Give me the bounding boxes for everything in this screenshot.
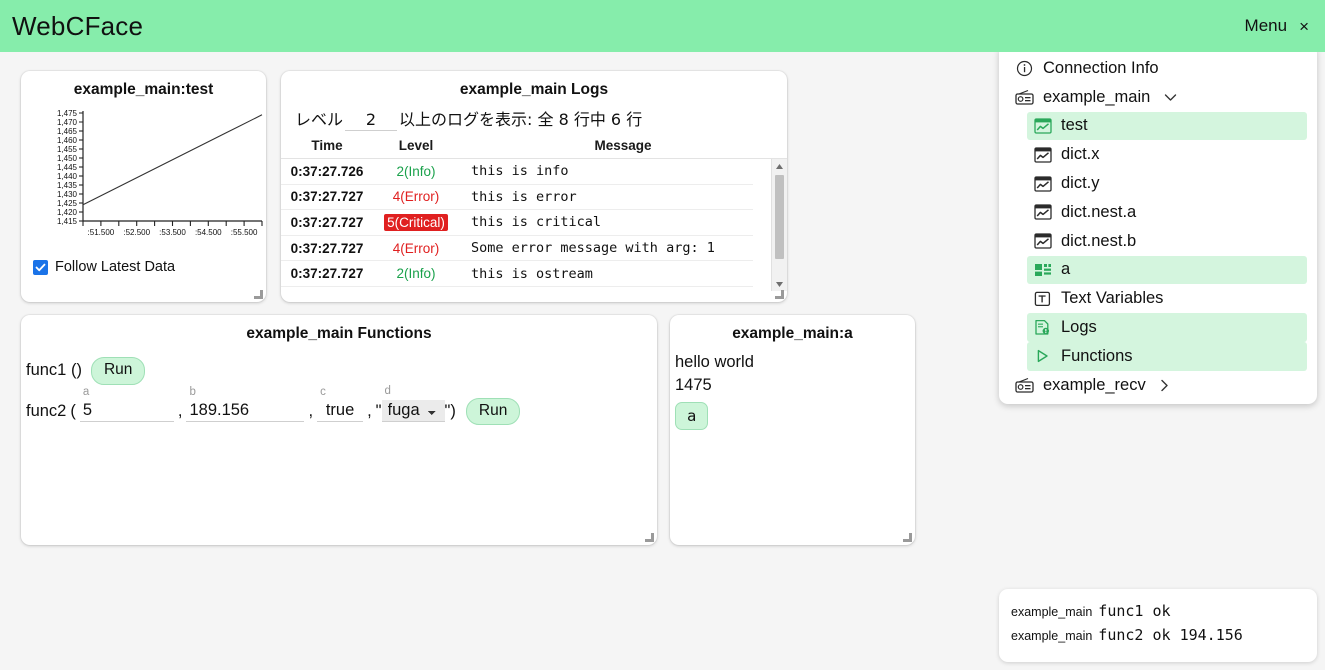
sidebar-item-a[interactable]: a — [1027, 256, 1307, 285]
svg-text:1,445: 1,445 — [57, 163, 78, 172]
svg-text::52.500: :52.500 — [123, 228, 150, 237]
func2-comma-2: , — [304, 402, 317, 421]
follow-latest-checkbox[interactable] — [33, 260, 48, 275]
function-row-func2: func2 ( a , b , c , " d fuga " ) Run — [21, 398, 657, 426]
log-row-message: this is critical — [459, 214, 753, 230]
func2-arg-b-input[interactable] — [186, 401, 304, 422]
text-icon — [1033, 289, 1052, 308]
notification-panel: example_mainfunc1 okexample_mainfunc2 ok… — [999, 589, 1317, 662]
log-row-time: 0:37:27.727 — [281, 215, 373, 230]
view-icon — [1033, 260, 1052, 279]
sidebar-item-label: Logs — [1061, 318, 1097, 337]
radio-icon — [1015, 376, 1034, 395]
svg-text:1,420: 1,420 — [57, 208, 78, 217]
sidebar-item-functions[interactable]: Functions — [1027, 342, 1307, 371]
status-badge: 5(Critical) — [384, 214, 448, 231]
table-row: 0:37:27.7274(Error)Some error message wi… — [281, 236, 753, 262]
sidebar-item-label: dict.nest.a — [1061, 203, 1136, 222]
status-badge: 2(Info) — [393, 265, 438, 282]
svg-text:1,475: 1,475 — [57, 109, 78, 118]
header-actions: Menu × — [1245, 16, 1309, 36]
func2-arg-d: d fuga — [382, 400, 445, 422]
func2-open-paren: ( — [66, 402, 80, 421]
sidebar-item-dict-nest-a[interactable]: dict.nest.a — [1027, 198, 1307, 227]
value-card-resize-handle[interactable] — [901, 531, 912, 542]
sidebar-item-label: dict.y — [1061, 174, 1100, 193]
check-icon — [35, 262, 46, 273]
log-row-level: 4(Error) — [373, 241, 459, 256]
func2-run-button[interactable]: Run — [466, 398, 520, 426]
sidebar-item-dict-nest-b[interactable]: dict.nest.b — [1027, 227, 1307, 256]
value-card: example_main:a hello world 1475 a — [670, 315, 915, 545]
notification-message: func2 ok 194.156 — [1098, 626, 1243, 644]
value-list: hello world 1475 a — [670, 343, 915, 430]
table-row: 0:37:27.7275(Critical)this is critical — [281, 210, 753, 236]
table-row: 0:37:27.7272(Info)this is ostream — [281, 261, 753, 287]
func2-arg-d-select[interactable]: fuga — [382, 400, 445, 422]
log-row-level: 5(Critical) — [373, 215, 459, 230]
chart-card-resize-handle[interactable] — [252, 288, 263, 299]
log-row-level: 2(Info) — [373, 266, 459, 281]
func2-arg-b: b — [186, 401, 304, 422]
chevron-right-icon[interactable] — [1160, 379, 1169, 392]
notification-source: example_main — [1011, 605, 1092, 619]
status-badge: 4(Error) — [390, 240, 443, 257]
log-column-message: Message — [459, 138, 787, 153]
value-line-text: hello world — [675, 351, 915, 374]
sidebar-item-list: Connection Infoexample_maintestdict.xdic… — [1009, 54, 1307, 400]
svg-text:1,415: 1,415 — [57, 217, 78, 226]
function-row-func1: func1 () Run — [21, 357, 657, 385]
func2-arg-a: a — [80, 401, 174, 422]
sidebar-item-label: Text Variables — [1061, 289, 1163, 308]
log-table-header: Time Level Message — [281, 135, 787, 159]
log-row-time: 0:37:27.727 — [281, 189, 373, 204]
func1-name: func1 — [26, 361, 66, 379]
func2-arg-c: c — [317, 401, 363, 422]
app-title: WebCFace — [12, 11, 143, 42]
func1-close-paren: ) — [76, 361, 82, 379]
func2-arg-d-label: d — [385, 385, 391, 397]
svg-text:1,435: 1,435 — [57, 181, 78, 190]
sidebar-item-connection-info[interactable]: Connection Info — [1009, 54, 1307, 83]
list-item: example_mainfunc1 ok — [1011, 599, 1305, 623]
functions-card-resize-handle[interactable] — [643, 531, 654, 542]
chart-icon — [1033, 174, 1052, 193]
log-row-time: 0:37:27.726 — [281, 164, 373, 179]
log-row-message: this is error — [459, 189, 753, 205]
func2-arg-c-label: c — [320, 386, 326, 398]
log-filter-prefix-label: レベル — [295, 106, 343, 130]
svg-text:1,460: 1,460 — [57, 136, 78, 145]
svg-text:1,470: 1,470 — [57, 118, 78, 127]
notification-source: example_main — [1011, 629, 1092, 643]
sidebar-item-text-variables[interactable]: Text Variables — [1027, 284, 1307, 313]
chart-icon — [1033, 203, 1052, 222]
status-badge: 2(Info) — [393, 163, 438, 180]
svg-text:1,430: 1,430 — [57, 190, 78, 199]
log-scrollbar-thumb[interactable] — [775, 175, 784, 259]
log-row-time: 0:37:27.727 — [281, 241, 373, 256]
func1-signature: func1 () — [26, 361, 82, 380]
log-row-message: Some error message with arg: 1 — [459, 240, 753, 256]
log-table-body: 0:37:27.7262(Info)this is info0:37:27.72… — [281, 159, 787, 291]
value-button[interactable]: a — [675, 402, 708, 430]
chart-plot-area: 1,4151,4201,4251,4301,4351,4401,4451,450… — [21, 103, 266, 253]
func2-arg-c-input[interactable] — [317, 401, 363, 422]
log-row-list: 0:37:27.7262(Info)this is info0:37:27.72… — [281, 159, 753, 287]
log-row-level: 4(Error) — [373, 189, 459, 204]
chart-icon — [1033, 116, 1052, 135]
svg-text::54.500: :54.500 — [195, 228, 222, 237]
svg-text::51.500: :51.500 — [88, 228, 115, 237]
func2-arg-a-label: a — [83, 386, 89, 398]
svg-text:1,440: 1,440 — [57, 172, 78, 181]
logs-icon — [1033, 318, 1052, 337]
scroll-up-icon[interactable] — [772, 159, 787, 173]
value-line-number: 1475 — [675, 374, 915, 397]
sidebar-item-label: Functions — [1061, 347, 1133, 366]
value-card-title: example_main:a — [670, 315, 915, 343]
func1-run-button[interactable]: Run — [91, 357, 145, 385]
chart-icon — [1033, 145, 1052, 164]
svg-text:1,465: 1,465 — [57, 127, 78, 136]
svg-text:1,450: 1,450 — [57, 154, 78, 163]
sidebar-item-example-main[interactable]: example_main — [1009, 83, 1307, 112]
svg-text:1,455: 1,455 — [57, 145, 78, 154]
logs-card-resize-handle[interactable] — [773, 288, 784, 299]
chevron-down-icon[interactable] — [1164, 93, 1177, 102]
sidebar-item-dict-x[interactable]: dict.x — [1027, 140, 1307, 169]
func2-comma-3: , — [363, 402, 376, 421]
menu-button[interactable]: Menu — [1245, 16, 1288, 36]
log-column-time: Time — [281, 138, 373, 153]
radio-icon — [1015, 88, 1034, 107]
play-icon — [1033, 347, 1052, 366]
follow-latest-row: Follow Latest Data — [21, 253, 266, 275]
line-chart: 1,4151,4201,4251,4301,4351,4401,4451,450… — [21, 103, 266, 253]
sidebar-item-label: dict.nest.b — [1061, 232, 1136, 251]
func2-arg-a-input[interactable] — [80, 401, 174, 422]
log-row-time: 0:37:27.727 — [281, 266, 373, 281]
svg-text:1,425: 1,425 — [57, 199, 78, 208]
follow-latest-label: Follow Latest Data — [55, 259, 175, 275]
sidebar-item-label: test — [1061, 116, 1088, 135]
log-row-message: this is ostream — [459, 266, 753, 282]
sidebar-item-logs[interactable]: Logs — [1027, 313, 1307, 342]
sidebar-item-label: example_main — [1043, 88, 1150, 107]
chart-card-title: example_main:test — [21, 71, 266, 99]
sidebar-item-dict-y[interactable]: dict.y — [1027, 169, 1307, 198]
menu-sidebar: Connection Infoexample_maintestdict.xdic… — [999, 44, 1317, 404]
log-row-message: this is info — [459, 163, 753, 179]
sidebar-item-example-recv[interactable]: example_recv — [1009, 371, 1307, 400]
notification-list: example_mainfunc1 okexample_mainfunc2 ok… — [1011, 599, 1305, 647]
sidebar-item-test[interactable]: test — [1027, 112, 1307, 141]
log-row-level: 2(Info) — [373, 164, 459, 179]
func2-arg-b-label: b — [189, 386, 195, 398]
sidebar-item-label: example_recv — [1043, 376, 1146, 395]
list-item: example_mainfunc2 ok 194.156 — [1011, 623, 1305, 647]
log-scrollbar[interactable] — [771, 159, 787, 291]
log-level-filter: レベル 以上のログを表示: 全 8 行中 6 行 — [281, 99, 787, 135]
logs-card: example_main Logs レベル 以上のログを表示: 全 8 行中 6… — [281, 71, 787, 302]
close-icon[interactable]: × — [1299, 18, 1309, 35]
func2-name: func2 — [26, 402, 66, 421]
sidebar-item-label: a — [1061, 260, 1070, 279]
sidebar-item-label: Connection Info — [1043, 59, 1159, 78]
chart-icon — [1033, 232, 1052, 251]
svg-text::53.500: :53.500 — [159, 228, 186, 237]
table-row: 0:37:27.7262(Info)this is info — [281, 159, 753, 185]
info-icon — [1015, 59, 1034, 78]
log-column-level: Level — [373, 138, 459, 153]
functions-card-title: example_main Functions — [21, 315, 657, 343]
status-badge: 4(Error) — [390, 188, 443, 205]
func2-close-paren: ) — [450, 402, 456, 421]
notification-message: func1 ok — [1098, 602, 1170, 620]
logs-card-title: example_main Logs — [281, 71, 787, 99]
sidebar-item-label: dict.x — [1061, 145, 1100, 164]
log-filter-suffix-label: 以上のログを表示: 全 8 行中 6 行 — [399, 106, 642, 130]
app-header: WebCFace Menu × — [0, 0, 1325, 52]
log-level-input[interactable] — [345, 110, 397, 131]
svg-text::55.500: :55.500 — [231, 228, 258, 237]
chart-card: example_main:test 1,4151,4201,4251,4301,… — [21, 71, 266, 302]
table-row: 0:37:27.7274(Error)this is error — [281, 185, 753, 211]
functions-card: example_main Functions func1 () Run func… — [21, 315, 657, 545]
func2-comma-1: , — [174, 402, 187, 421]
